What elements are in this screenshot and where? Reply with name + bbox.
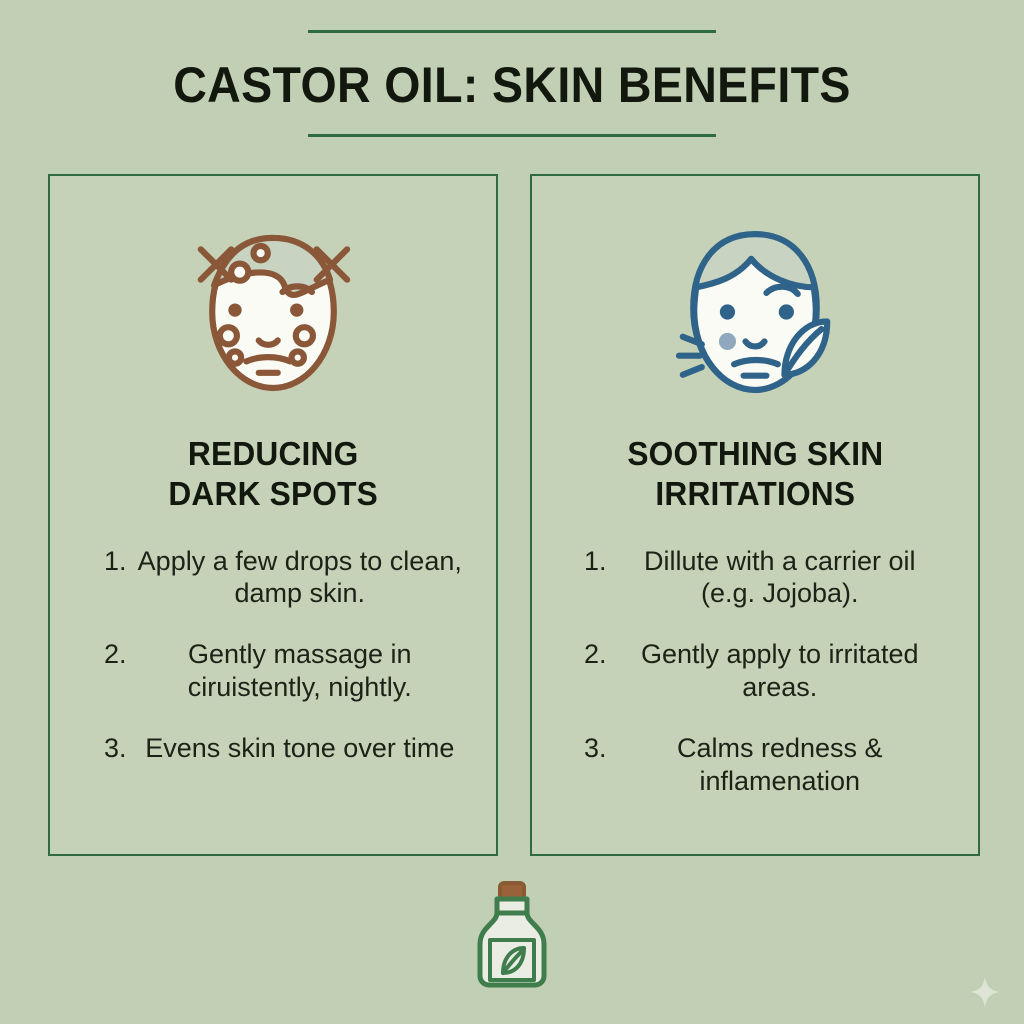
infographic-poster: CASTOR OIL: SKIN BENEFITS: [0, 0, 1024, 1024]
step-text: Calms redness & inflamenation: [616, 732, 944, 798]
step-number: 2.: [584, 638, 616, 704]
list-item: 3. Calms redness & inflamenation: [584, 732, 944, 798]
list-item: 3. Evens skin tone over time: [104, 732, 464, 765]
header: CASTOR OIL: SKIN BENEFITS: [0, 30, 1024, 137]
face-with-leaf-icon: [655, 212, 855, 412]
step-number: 1.: [584, 545, 616, 611]
card-heading: REDUCING DARK SPOTS: [168, 434, 378, 515]
title-rule-bottom: [308, 134, 716, 137]
card-heading-line-2: DARK SPOTS: [168, 474, 378, 514]
step-text: Gently massage in ciruistently, nightly.: [136, 638, 464, 704]
step-text: Apply a few drops to clean, damp skin.: [136, 545, 464, 611]
step-number: 1.: [104, 545, 136, 611]
step-text: Gently apply to irritated areas.: [616, 638, 944, 704]
step-number: 3.: [104, 732, 136, 765]
sparkle-icon: [968, 975, 1002, 1009]
steps-list: 1. Apply a few drops to clean, damp skin…: [82, 545, 464, 794]
step-number: 2.: [104, 638, 136, 704]
benefit-card-soothing-skin-irritations: SOOTHING SKIN IRRITATIONS 1. Dillute wit…: [530, 174, 980, 856]
oil-bottle-with-leaf-icon: [0, 880, 1024, 990]
list-item: 2. Gently apply to irritated areas.: [584, 638, 944, 704]
benefit-card-reducing-dark-spots: REDUCING DARK SPOTS 1. Apply a few drops…: [48, 174, 498, 856]
face-with-dark-spots-icon: [173, 212, 373, 412]
steps-list: 1. Dillute with a carrier oil (e.g. Jojo…: [566, 545, 944, 827]
card-heading: SOOTHING SKIN IRRITATIONS: [627, 434, 883, 515]
list-item: 1. Dillute with a carrier oil (e.g. Jojo…: [584, 545, 944, 611]
card-heading-line-1: SOOTHING SKIN: [627, 434, 883, 474]
step-text: Evens skin tone over time: [136, 732, 464, 765]
card-heading-line-2: IRRITATIONS: [627, 474, 883, 514]
step-text: Dillute with a carrier oil (e.g. Jojoba)…: [616, 545, 944, 611]
page-title: CASTOR OIL: SKIN BENEFITS: [36, 60, 988, 110]
benefit-cards: REDUCING DARK SPOTS 1. Apply a few drops…: [48, 174, 980, 856]
list-item: 1. Apply a few drops to clean, damp skin…: [104, 545, 464, 611]
title-rule-top: [308, 30, 716, 33]
step-number: 3.: [584, 732, 616, 798]
list-item: 2. Gently massage in ciruistently, night…: [104, 638, 464, 704]
card-heading-line-1: REDUCING: [168, 434, 378, 474]
